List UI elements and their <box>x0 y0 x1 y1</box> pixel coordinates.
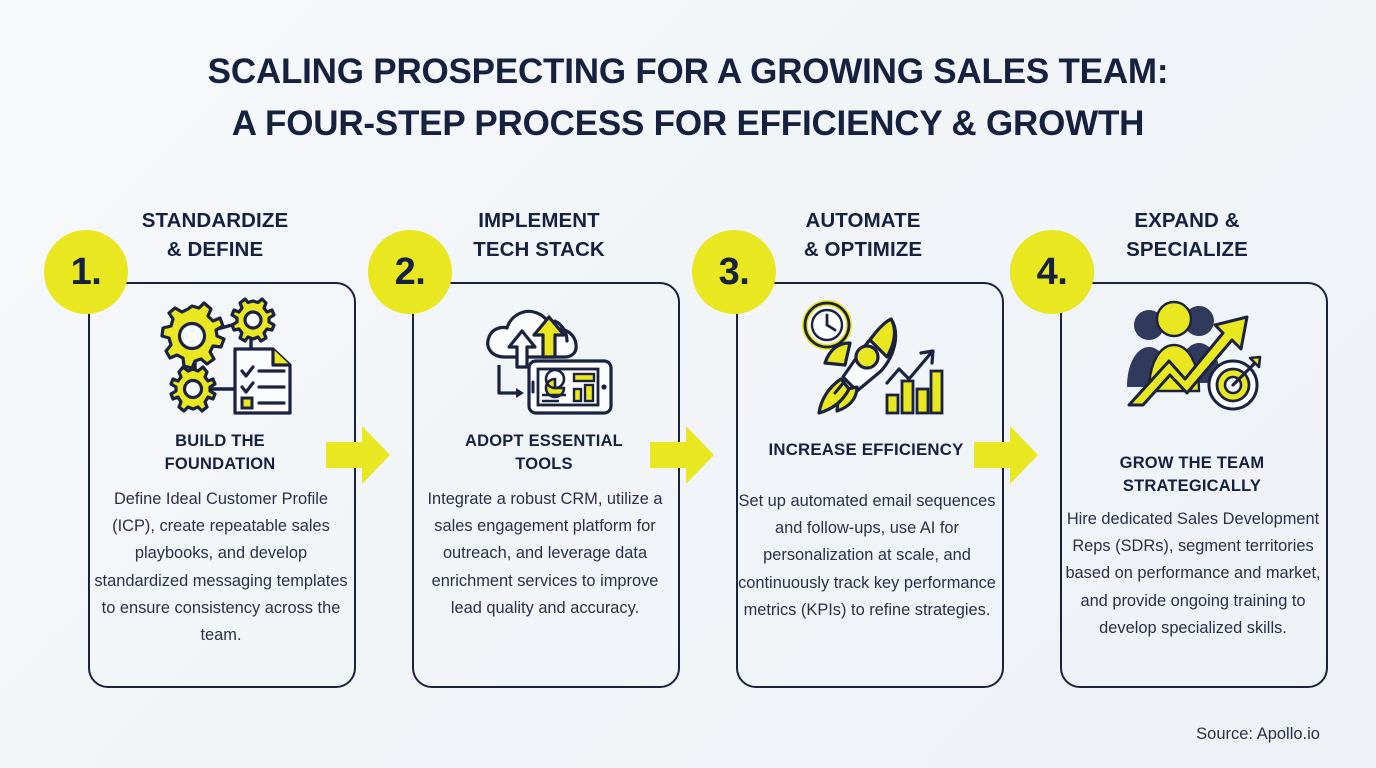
step-3-number-badge: 3. <box>692 230 776 314</box>
step-1-subtitle-line-2: Foundation <box>94 453 346 476</box>
step-1-heading: Standardize & Define <box>88 206 342 264</box>
step-2-heading: Implement Tech Stack <box>412 206 666 264</box>
title-line-2: A Four-Step Process for Efficiency & Gro… <box>0 98 1376 150</box>
team-growth-target-icon <box>1060 292 1328 420</box>
step-card-1: Standardize & Define 1. <box>44 200 332 700</box>
step-2-number-badge: 2. <box>368 230 452 314</box>
step-1-heading-line-1: Standardize <box>88 206 342 235</box>
cloud-upload-dashboard-icon <box>412 292 680 420</box>
step-1-description: Define Ideal Customer Profile (ICP), cre… <box>92 486 350 649</box>
step-1-number-badge: 1. <box>44 230 128 314</box>
step-2-subtitle-line-1: Adopt Essential <box>418 430 670 453</box>
arrow-step1-to-step2 <box>326 424 390 486</box>
source-attribution: Source: Apollo.io <box>1196 725 1320 744</box>
step-4-heading-line-2: Specialize <box>1060 235 1314 264</box>
infographic-canvas: Scaling Prospecting for a Growing Sales … <box>0 0 1376 768</box>
step-card-3: Automate & Optimize 3. <box>692 200 980 700</box>
step-card-2: Implement Tech Stack 2. <box>368 200 656 700</box>
step-3-subtitle: Increase Efficiency <box>728 438 1004 461</box>
page-title: Scaling Prospecting for a Growing Sales … <box>0 46 1376 150</box>
step-4-heading: Expand & Specialize <box>1060 206 1314 264</box>
arrow-step3-to-step4 <box>974 424 1038 486</box>
step-4-subtitle-line-2: Strategically <box>1066 475 1318 498</box>
rocket-clock-chart-icon <box>736 292 1004 420</box>
title-line-1: Scaling Prospecting for a Growing Sales … <box>0 46 1376 98</box>
arrow-step2-to-step3 <box>650 424 714 486</box>
step-4-number-badge: 4. <box>1010 230 1094 314</box>
step-4-subtitle: Grow the Team Strategically <box>1066 452 1318 498</box>
step-3-description: Set up automated email sequences and fol… <box>728 488 1006 624</box>
step-1-subtitle-line-1: Build the <box>94 430 346 453</box>
step-2-subtitle-line-2: Tools <box>418 453 670 476</box>
step-3-heading: Automate & Optimize <box>736 206 990 264</box>
step-2-description: Integrate a robust CRM, utilize a sales … <box>416 486 674 622</box>
step-3-heading-line-1: Automate <box>736 206 990 235</box>
step-1-subtitle: Build the Foundation <box>94 430 346 476</box>
step-4-subtitle-line-1: Grow the Team <box>1066 452 1318 475</box>
step-card-4: Expand & Specialize 4. <box>1016 200 1304 700</box>
step-4-heading-line-1: Expand & <box>1060 206 1314 235</box>
step-2-heading-line-1: Implement <box>412 206 666 235</box>
step-3-subtitle-line-1: Increase Efficiency <box>728 438 1004 461</box>
step-4-description: Hire dedicated Sales Development Reps (S… <box>1064 506 1322 642</box>
step-2-subtitle: Adopt Essential Tools <box>418 430 670 476</box>
gears-checklist-icon <box>88 292 356 420</box>
